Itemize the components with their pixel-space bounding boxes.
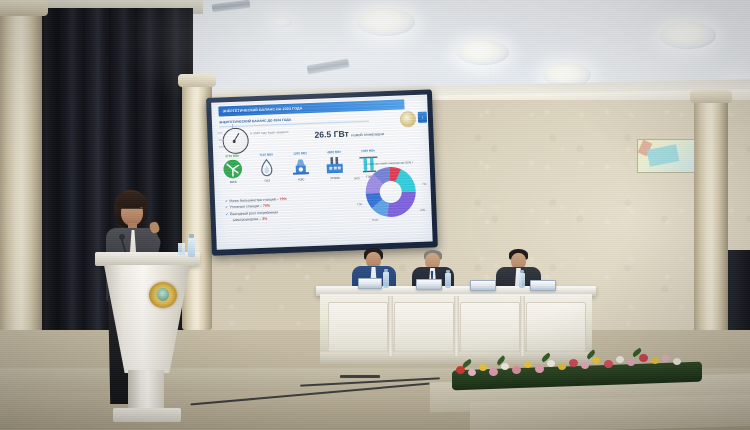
- ceiling-light-4: [660, 22, 716, 49]
- slide-headline-lead: К 2030 году будет введено: [250, 129, 312, 143]
- presentation-screen[interactable]: ЭНЕРГЕТИЧЕСКИЙ БАЛАНС НА 2024 ГОДА ЭНЕРГ…: [206, 89, 438, 256]
- flower-leaf: [461, 359, 472, 369]
- donut-label: АЭС: [420, 209, 426, 212]
- bullet-value: 70%: [263, 204, 270, 208]
- flower-bloom: [627, 359, 635, 366]
- donut-label: ВИЭ: [354, 177, 360, 180]
- donut-chart: Структура новой генерации до 2035 г. ВИЭ…: [354, 161, 428, 219]
- slide-icon-renewables: 3715 МВт ВИЭ: [219, 154, 246, 185]
- wind-turbine-icon: [219, 159, 246, 180]
- table-water-bottle: [519, 273, 525, 288]
- donut-chart-ring: [365, 166, 417, 218]
- flower-bloom: [468, 369, 476, 376]
- slide-icon-gas: 7115 МВт ГАЗ: [253, 152, 280, 183]
- flower-bloom: [604, 360, 613, 368]
- table-panel-section: [526, 302, 586, 352]
- table-panel-section: [460, 302, 520, 352]
- floor-cable-3: [340, 375, 380, 378]
- flower-bloom: [489, 368, 498, 376]
- flower-bloom: [673, 358, 681, 365]
- column-right-capital: [690, 90, 732, 103]
- glasses-icon: [121, 208, 143, 214]
- flower-bloom: [535, 365, 544, 373]
- table-leg: [454, 296, 459, 356]
- table-leg: [520, 296, 525, 356]
- coal-plant-icon: [321, 155, 348, 176]
- column-far-left-capital: [0, 0, 48, 16]
- donut-label: Газ: [423, 183, 427, 186]
- flower-bloom: [616, 356, 624, 363]
- nuclear-plant-icon: [287, 156, 314, 177]
- stage-flower-arrangement: [452, 352, 722, 386]
- bullet-value: 3%: [262, 217, 267, 221]
- flower-bloom: [639, 354, 648, 362]
- flower-bloom: [569, 359, 578, 367]
- table-panel-section: [394, 302, 454, 352]
- icon-label: УГОЛЬ: [322, 176, 348, 181]
- donut-chart-hole: [379, 181, 402, 204]
- podium: [95, 252, 200, 420]
- emblem-center-icon: [157, 288, 169, 301]
- bullet-text: Угольные станции –: [230, 204, 263, 209]
- bottle-cap-icon: [384, 269, 388, 272]
- ceiling-light-1: [357, 8, 415, 36]
- gauge-ray-icon: [219, 146, 224, 147]
- slide-icon-nuclear: 1200 МВт АЭС: [287, 151, 314, 182]
- bottle-cap-icon: [189, 234, 194, 238]
- gauge-ray-icon: [217, 132, 222, 133]
- column-right: [694, 96, 728, 344]
- bullet-text: Ежегодный рост потребления: [230, 210, 278, 216]
- flower-bloom: [501, 363, 509, 370]
- nameplate-1: [358, 278, 382, 289]
- bullet-text: Износ большинства станций –: [229, 197, 278, 203]
- check-icon: ✓: [225, 212, 228, 216]
- front-floor: [0, 392, 480, 430]
- podium-base: [113, 408, 181, 422]
- flower-bloom: [558, 363, 566, 370]
- nameplate-3: [470, 280, 496, 291]
- bottle-cap-icon: [520, 270, 524, 273]
- flower-bloom: [662, 355, 670, 362]
- headline-number: 26.5 ГВт: [314, 129, 349, 140]
- flower-bloom: [651, 357, 659, 364]
- table-water-bottle: [445, 273, 451, 288]
- microphone-icon: [119, 234, 125, 240]
- ceiling-light-2: [457, 40, 509, 65]
- podium-stem: [128, 370, 164, 412]
- flower-bloom: [592, 357, 600, 364]
- slide-content: ЭНЕРГЕТИЧЕСКИЙ БАЛАНС НА 2024 ГОДА ЭНЕРГ…: [211, 95, 432, 250]
- icon-label: ВИЭ: [220, 180, 246, 185]
- flower-bloom: [524, 361, 532, 368]
- flower-bloom: [581, 362, 589, 369]
- nameplate-2: [416, 279, 442, 290]
- gauge-ray-icon: [232, 124, 233, 128]
- bullet-value: 70%: [280, 197, 287, 201]
- flower-bloom: [547, 360, 555, 367]
- flower-bloom: [512, 366, 521, 374]
- slide-bullet-list: ✓Износ большинства станций – 70% ✓Угольн…: [225, 194, 344, 224]
- speaker-hair-front: [115, 192, 147, 208]
- drinking-glass: [178, 243, 185, 255]
- headline-unit: новой генерации: [351, 131, 384, 137]
- conference-hall-photo: ЭНЕРГЕТИЧЕСКИЙ БАЛАНС НА 2024 ГОДА ЭНЕРГ…: [0, 0, 750, 430]
- ceiling-light-5: [272, 17, 292, 27]
- info-tab-icon: i: [418, 112, 427, 123]
- icon-label: ГАЗ: [254, 178, 280, 183]
- icon-label: АЭС: [288, 177, 314, 182]
- check-icon: ✓: [225, 199, 228, 203]
- water-bottle: [188, 238, 195, 257]
- column-center-left-capital: [178, 74, 216, 87]
- donut-label: ГЭС: [357, 203, 362, 206]
- table-leg: [388, 296, 393, 356]
- podium-body: [104, 265, 190, 373]
- bullet-text: электроэнергии –: [233, 217, 262, 222]
- table-panel-section: [328, 302, 388, 352]
- gauge-ray-icon: [219, 139, 224, 140]
- gas-flame-icon: [253, 157, 280, 178]
- table-water-bottle: [383, 272, 389, 288]
- bottle-cap-icon: [446, 270, 450, 273]
- slide-headline-value: 26.5 ГВт новой генерации: [314, 126, 424, 142]
- flower-bloom: [479, 364, 487, 371]
- slide-icon-coal: 4800 МВт УГОЛЬ: [321, 150, 348, 181]
- donut-label: Уголь: [372, 218, 379, 221]
- nameplate-4: [530, 280, 556, 291]
- check-icon: ✓: [225, 206, 228, 210]
